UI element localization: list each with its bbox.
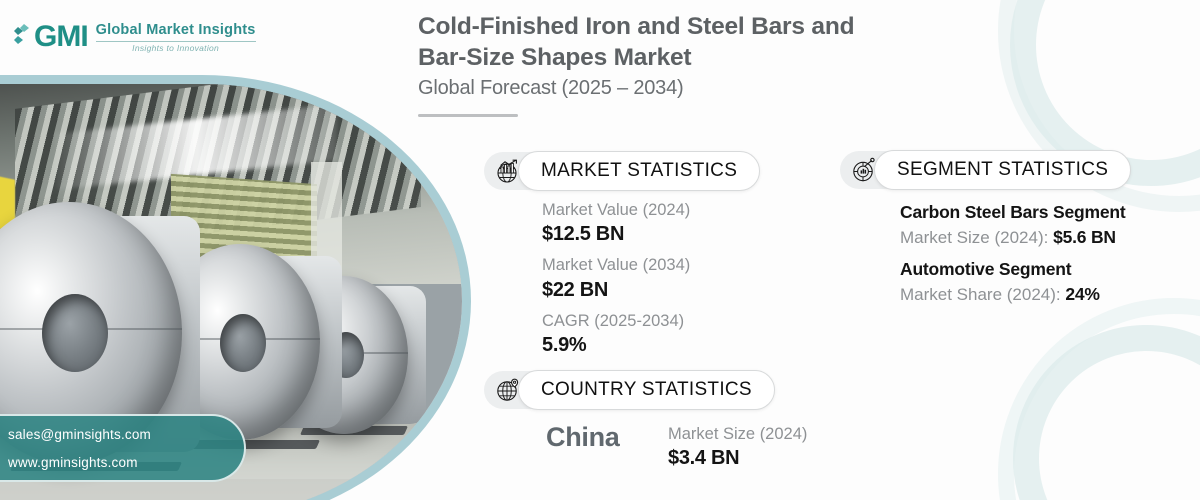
segment-1-title: Carbon Steel Bars Segment	[900, 200, 1125, 225]
page-subtitle: Global Forecast (2025 – 2034)	[418, 77, 978, 100]
logo-divider	[96, 41, 256, 42]
segment-statistics-body: Carbon Steel Bars Segment Market Size (2…	[900, 200, 1125, 308]
segment-2-label: Market Share (2024):	[900, 285, 1065, 304]
contact-email[interactable]: sales@gminsights.com	[8, 420, 244, 448]
country-name: China	[546, 422, 620, 453]
market-value-2024-label: Market Value (2024)	[542, 199, 690, 221]
country-market-size-label: Market Size (2024)	[668, 423, 807, 445]
infographic-canvas: sales@gminsights.com www.gminsights.com …	[0, 0, 1200, 500]
segment-2-value: 24%	[1065, 284, 1099, 304]
page-title-line1: Cold-Finished Iron and Steel Bars and	[418, 13, 854, 40]
segment-statistics-header: SEGMENT STATISTICS	[840, 149, 1131, 191]
cagr-label: CAGR (2025-2034)	[542, 310, 690, 332]
market-value-2034-value: $22 BN	[542, 277, 690, 303]
market-statistics-body: Market Value (2024) $12.5 BN Market Valu…	[542, 199, 690, 358]
header: Cold-Finished Iron and Steel Bars and Ba…	[418, 12, 978, 117]
cagr-value: 5.9%	[542, 332, 690, 358]
contact-pill: sales@gminsights.com www.gminsights.com	[0, 414, 246, 482]
gmi-logo-icon: GMI	[14, 22, 88, 52]
segment-statistics-title: SEGMENT STATISTICS	[874, 150, 1131, 190]
country-name-block: China	[546, 422, 620, 453]
decorative-arc-bottom-right	[1013, 325, 1200, 500]
brand-tagline: Insights to Innovation	[96, 43, 256, 53]
market-value-2034-label: Market Value (2034)	[542, 254, 690, 276]
segment-1-value: $5.6 BN	[1053, 227, 1116, 247]
segment-1-label: Market Size (2024):	[900, 228, 1053, 247]
header-divider	[418, 114, 518, 117]
page-title: Cold-Finished Iron and Steel Bars and Ba…	[418, 12, 978, 73]
segment-2-title: Automotive Segment	[900, 257, 1125, 282]
market-statistics-title: MARKET STATISTICS	[518, 151, 760, 191]
country-market-size-value: $3.4 BN	[668, 445, 807, 471]
market-value-2024-value: $12.5 BN	[542, 221, 690, 247]
market-statistics-header: MARKET STATISTICS	[484, 150, 760, 192]
contact-website[interactable]: www.gminsights.com	[8, 448, 244, 476]
segment-1-row: Market Size (2024): $5.6 BN	[900, 225, 1125, 251]
segment-2-row: Market Share (2024): 24%	[900, 282, 1125, 308]
country-statistics-body: Market Size (2024) $3.4 BN	[668, 423, 807, 471]
country-statistics-header: COUNTRY STATISTICS	[484, 369, 775, 411]
page-title-line2: Bar-Size Shapes Market	[418, 44, 691, 71]
brand-logo[interactable]: GMI Global Market Insights Insights to I…	[14, 22, 256, 53]
gmi-wordmark: GMI	[34, 22, 88, 52]
country-statistics-title: COUNTRY STATISTICS	[518, 370, 775, 410]
brand-name: Global Market Insights	[96, 22, 256, 39]
